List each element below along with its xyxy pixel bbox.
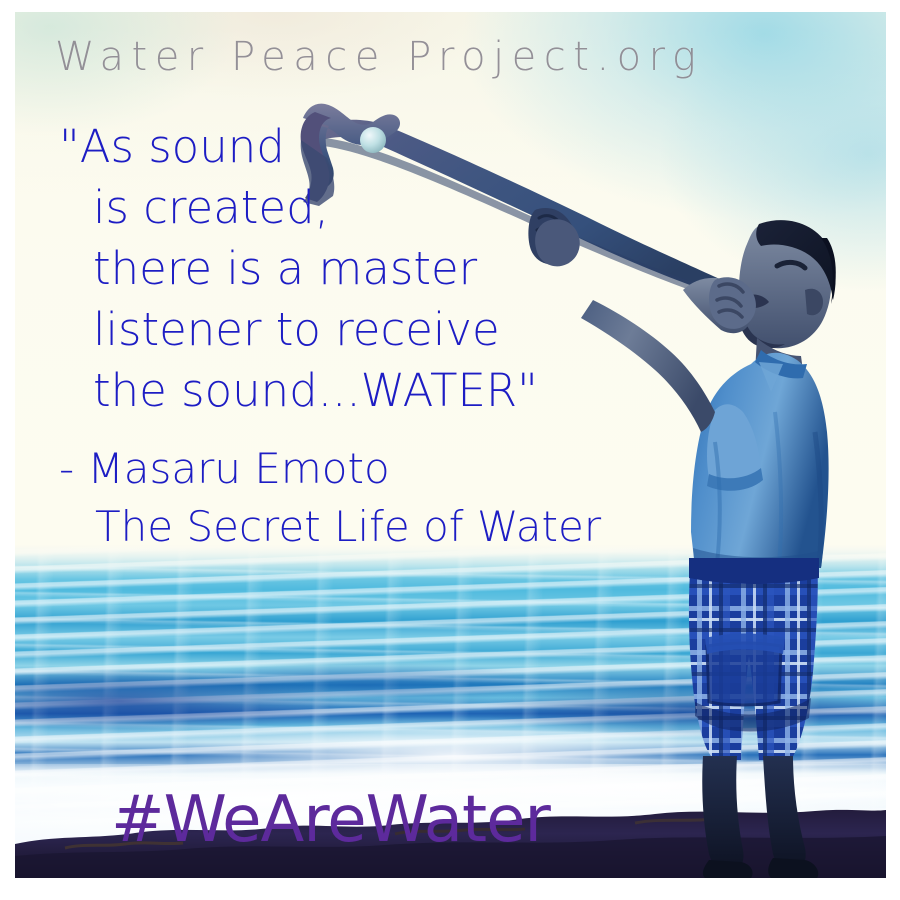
quote-line-2: is created, xyxy=(59,177,538,238)
attribution-source: The Secret Life of Water xyxy=(59,498,601,556)
quote-line-1: "As sound xyxy=(59,116,538,177)
site-title: Water Peace Project.org xyxy=(55,34,703,80)
poster-canvas: Water Peace Project.org "As sound is cre… xyxy=(0,0,900,900)
photo-area: Water Peace Project.org "As sound is cre… xyxy=(15,12,886,878)
quote-line-4: listener to receive xyxy=(59,299,538,360)
attribution-author: - Masaru Emoto xyxy=(59,440,601,498)
hashtag-text: #WeAreWater xyxy=(111,788,550,852)
quote-line-3: there is a master xyxy=(59,238,538,299)
quote-text: "As sound is created, there is a master … xyxy=(59,116,538,421)
quote-line-5: the sound...WATER" xyxy=(59,360,538,421)
attribution-text: - Masaru Emoto The Secret Life of Water xyxy=(59,440,601,556)
